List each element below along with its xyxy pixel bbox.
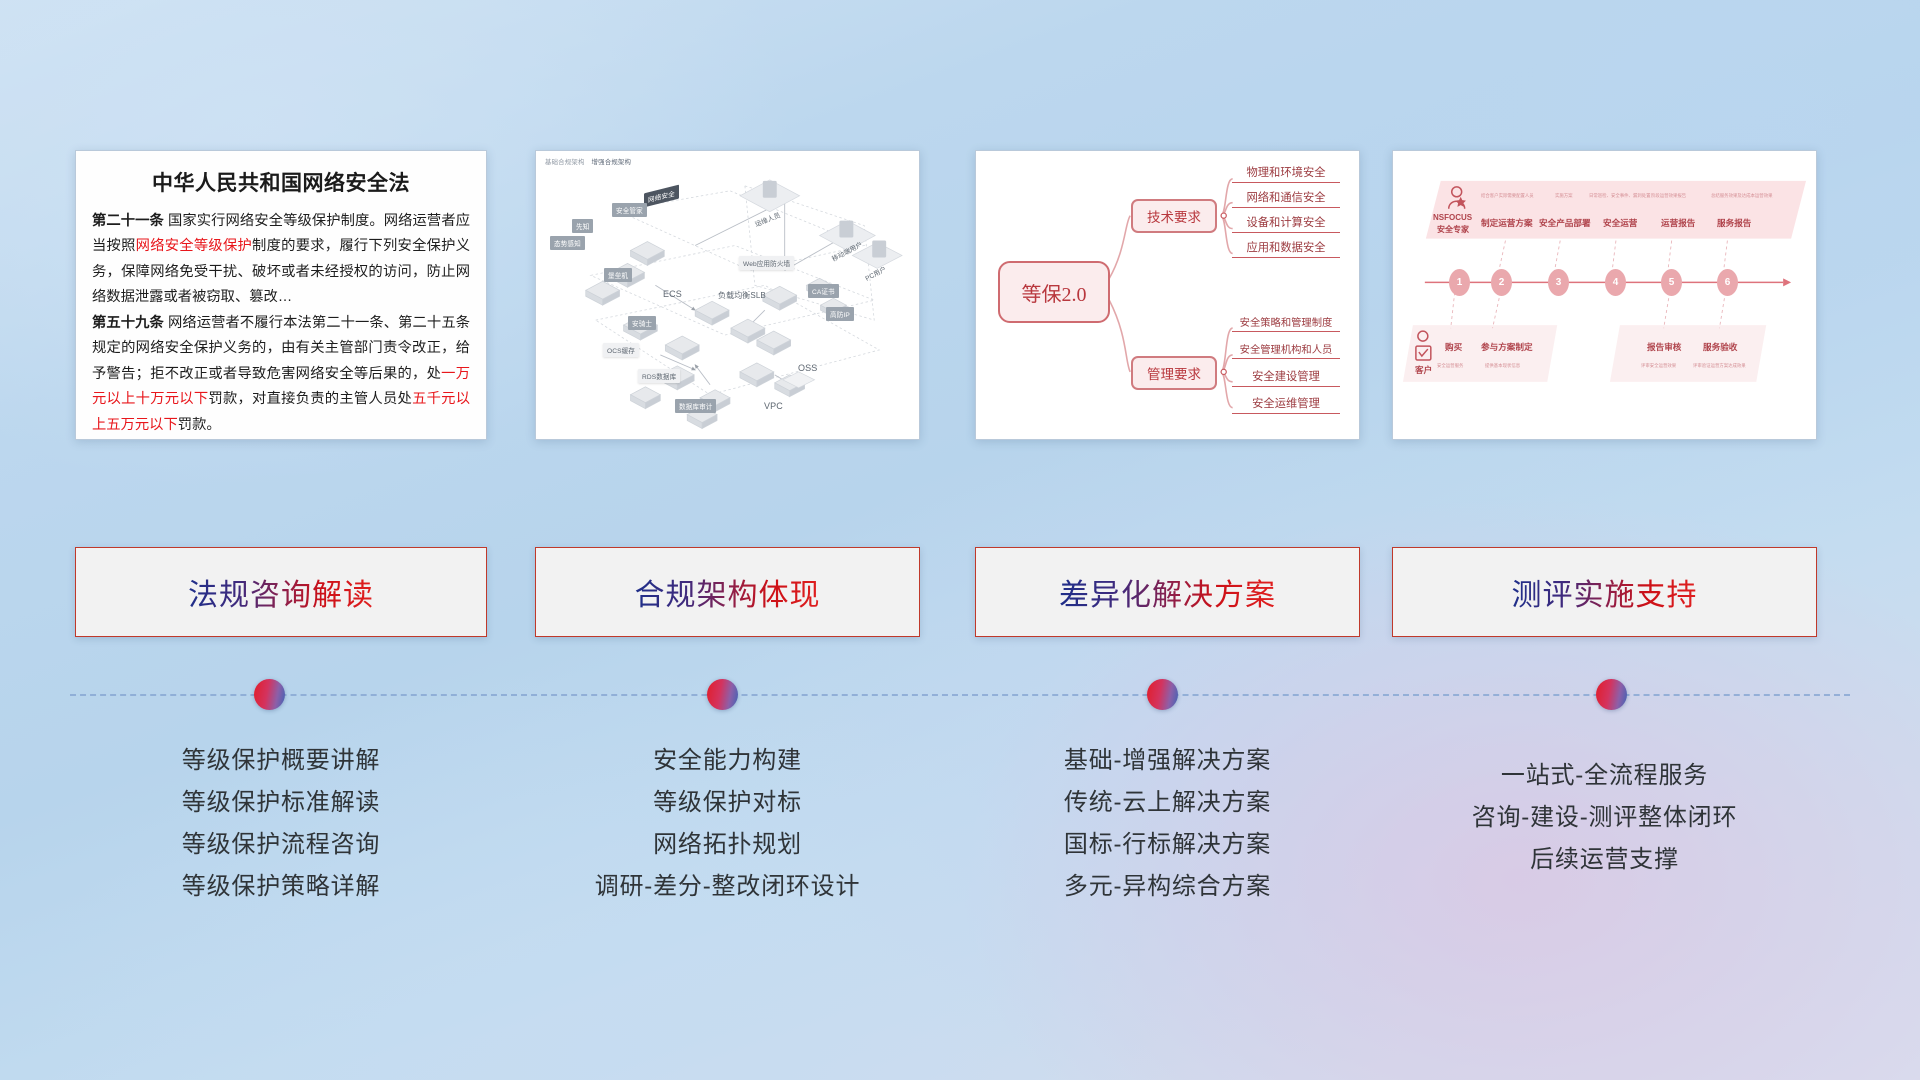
mindmap-leaf-t4: 应用和数据安全 bbox=[1232, 239, 1340, 258]
nsfocus-bottom-title-1: 购买 bbox=[1445, 341, 1462, 353]
law-paragraph-2: 第五十九条 网络运营者不履行本法第二十一条、第二十五条规定的网络安全保护义务的，… bbox=[92, 311, 470, 438]
node-waf: Web应用防火墙 bbox=[739, 256, 794, 270]
list-item: 等级保护策略详解 bbox=[75, 866, 487, 908]
nsfocus-top-title-5: 服务报告 bbox=[1717, 217, 1751, 229]
mindmap-leaf-t3: 设备和计算安全 bbox=[1232, 214, 1340, 233]
node-db-audit: 数据库审计 bbox=[675, 399, 716, 413]
title-label-3: 差异化解决方案 bbox=[1059, 570, 1276, 614]
nsfocus-step-3: 3 bbox=[1548, 269, 1569, 296]
law-run-1-2: 网络安全等级保护 bbox=[136, 238, 252, 254]
node-agent-guard: 安骑士 bbox=[628, 316, 656, 330]
nsfocus-card: NSFOCUS 安全专家 客户 结合客户实际需要配置人员 制定运营方案 实施方案… bbox=[1392, 150, 1817, 440]
law-run-2-5: 罚款。 bbox=[178, 417, 221, 433]
nsfocus-bottom-sub-2: 提供基本现状信息 bbox=[1485, 363, 1520, 369]
nsfocus-top-sub-5: 总结服务效果及达成本运营效果 bbox=[1711, 193, 1772, 199]
nsfocus-bottom-title-4: 服务验收 bbox=[1703, 341, 1737, 353]
slide-canvas: 中华人民共和国网络安全法 第二十一条 国家实行网络安全等级保护制度。网络运营者应… bbox=[0, 0, 1920, 1080]
list-item: 传统-云上解决方案 bbox=[975, 782, 1360, 824]
nsfocus-diagram: NSFOCUS 安全专家 客户 结合客户实际需要配置人员 制定运营方案 实施方案… bbox=[1393, 151, 1816, 439]
law-paragraph-1: 第二十一条 国家实行网络安全等级保护制度。网络运营者应当按照网络安全等级保护制度… bbox=[92, 209, 470, 311]
nsfocus-bottom-sub-1: 安全运营服务 bbox=[1437, 363, 1463, 369]
nsfocus-top-title-3: 安全运营 bbox=[1603, 217, 1637, 229]
list-item: 等级保护流程咨询 bbox=[75, 824, 487, 866]
nsfocus-actor-line2: 安全专家 bbox=[1437, 224, 1469, 235]
node-ocs-cache: OCS缓存 bbox=[603, 343, 639, 357]
law-card: 中华人民共和国网络安全法 第二十一条 国家实行网络安全等级保护制度。网络运营者应… bbox=[75, 150, 487, 440]
law-article-label-2: 第五十九条 bbox=[92, 315, 164, 331]
list-item: 多元-异构综合方案 bbox=[975, 866, 1360, 908]
nsfocus-top-sub-4: 阶段运营效果报告 bbox=[1651, 193, 1686, 199]
nsfocus-top-sub-3: 日常巡检、安全事件、漏洞处置 bbox=[1589, 193, 1650, 199]
nsfocus-bottom-title-2: 参与方案制定 bbox=[1481, 341, 1533, 353]
law-article-label-1: 第二十一条 bbox=[92, 213, 164, 229]
nsfocus-customer-label: 客户 bbox=[1415, 364, 1432, 376]
law-card-body: 中华人民共和国网络安全法 第二十一条 国家实行网络安全等级保护制度。网络运营者应… bbox=[76, 151, 486, 440]
nsfocus-step-1: 1 bbox=[1449, 269, 1470, 296]
list-item: 咨询-建设-测评整体闭环 bbox=[1392, 797, 1817, 839]
mindmap-card: 等保2.0 技术要求 管理要求 物理和环境安全 网络和通信安全 设备和计算安全 … bbox=[975, 150, 1360, 440]
timeline-dot-1 bbox=[254, 679, 285, 710]
architecture-diagram: 基础合规架构 增强合规架构 bbox=[536, 151, 919, 439]
nsfocus-step-6: 6 bbox=[1717, 269, 1738, 296]
nsfocus-actor-line1: NSFOCUS bbox=[1433, 213, 1472, 222]
mindmap-leaf-m3: 安全建设管理 bbox=[1232, 368, 1340, 387]
list-item: 等级保护标准解读 bbox=[75, 782, 487, 824]
feature-list-3: 基础-增强解决方案 传统-云上解决方案 国标-行标解决方案 多元-异构综合方案 bbox=[975, 740, 1360, 908]
nsfocus-step-4: 4 bbox=[1605, 269, 1626, 296]
nsfocus-bottom-title-3: 报告审核 bbox=[1647, 341, 1681, 353]
title-box-1[interactable]: 法规咨询解读 bbox=[75, 547, 487, 637]
nsfocus-step-2: 2 bbox=[1491, 269, 1512, 296]
title-label-2: 合规架构体现 bbox=[635, 570, 821, 614]
node-ca-cert: CA证书 bbox=[808, 284, 839, 298]
mindmap-leaf-m2: 安全管理机构和人员 bbox=[1232, 341, 1340, 359]
node-situation-awareness: 态势感知 bbox=[550, 236, 585, 250]
nsfocus-bottom-sub-4: 评审验证运营方案达成效果 bbox=[1693, 363, 1746, 369]
mindmap-leaf-t1: 物理和环境安全 bbox=[1232, 164, 1340, 183]
nsfocus-top-title-1: 制定运营方案 bbox=[1481, 217, 1533, 229]
node-xianzhi: 先知 bbox=[572, 219, 593, 233]
mindmap-leaf-m4: 安全运维管理 bbox=[1232, 395, 1340, 414]
node-security-manager: 安全管家 bbox=[612, 203, 647, 217]
list-item: 等级保护概要讲解 bbox=[75, 740, 487, 782]
mindmap-branch-technical: 技术要求 bbox=[1131, 199, 1217, 233]
feature-list-4: 一站式-全流程服务 咨询-建设-测评整体闭环 后续运营支撑 bbox=[1392, 755, 1817, 881]
title-box-2[interactable]: 合规架构体现 bbox=[535, 547, 920, 637]
list-item: 国标-行标解决方案 bbox=[975, 824, 1360, 866]
title-label-4: 测评实施支持 bbox=[1512, 570, 1698, 614]
timeline-dot-3 bbox=[1147, 679, 1178, 710]
node-slb: 负载均衡SLB bbox=[718, 290, 766, 301]
nsfocus-top-sub-2: 实施方案 bbox=[1555, 193, 1573, 199]
list-item: 等级保护对标 bbox=[535, 782, 920, 824]
nsfocus-top-title-2: 安全产品部署 bbox=[1539, 217, 1591, 229]
list-item: 调研-差分-整改闭环设计 bbox=[535, 866, 920, 908]
mindmap-root: 等保2.0 bbox=[998, 261, 1110, 323]
node-anti-ddos-ip: 高防IP bbox=[826, 307, 854, 321]
mindmap-diagram: 等保2.0 技术要求 管理要求 物理和环境安全 网络和通信安全 设备和计算安全 … bbox=[976, 151, 1359, 439]
timeline-dot-2 bbox=[707, 679, 738, 710]
list-item: 网络拓扑规划 bbox=[535, 824, 920, 866]
node-vpc: VPC bbox=[764, 401, 783, 411]
node-rds-db: RDS数据库 bbox=[638, 369, 680, 383]
nsfocus-top-title-4: 运营报告 bbox=[1661, 217, 1695, 229]
node-ecs: ECS bbox=[663, 289, 682, 299]
law-card-title: 中华人民共和国网络安全法 bbox=[92, 167, 470, 197]
architecture-card: 基础合规架构 增强合规架构 bbox=[535, 150, 920, 440]
nsfocus-bottom-sub-3: 评审安全运营效果 bbox=[1641, 363, 1676, 369]
title-box-3[interactable]: 差异化解决方案 bbox=[975, 547, 1360, 637]
timeline-dashed-line bbox=[70, 694, 1850, 696]
list-item: 安全能力构建 bbox=[535, 740, 920, 782]
law-run-2-3: 罚款，对直接负责的主管人员处 bbox=[208, 391, 412, 407]
nsfocus-step-5: 5 bbox=[1661, 269, 1682, 296]
timeline-dot-4 bbox=[1596, 679, 1627, 710]
node-bastion-host: 堡垒机 bbox=[604, 268, 632, 282]
list-item: 一站式-全流程服务 bbox=[1392, 755, 1817, 797]
title-box-4[interactable]: 测评实施支持 bbox=[1392, 547, 1817, 637]
mindmap-branch-management: 管理要求 bbox=[1131, 356, 1217, 390]
list-item: 后续运营支撑 bbox=[1392, 839, 1817, 881]
list-item: 基础-增强解决方案 bbox=[975, 740, 1360, 782]
mindmap-leaf-t2: 网络和通信安全 bbox=[1232, 189, 1340, 208]
nsfocus-top-sub-1: 结合客户实际需要配置人员 bbox=[1481, 193, 1534, 199]
feature-list-2: 安全能力构建 等级保护对标 网络拓扑规划 调研-差分-整改闭环设计 bbox=[535, 740, 920, 908]
title-label-1: 法规咨询解读 bbox=[188, 570, 374, 614]
feature-list-1: 等级保护概要讲解 等级保护标准解读 等级保护流程咨询 等级保护策略详解 bbox=[75, 740, 487, 908]
mindmap-leaf-m1: 安全策略和管理制度 bbox=[1232, 314, 1340, 332]
node-oss: OSS bbox=[798, 363, 817, 373]
